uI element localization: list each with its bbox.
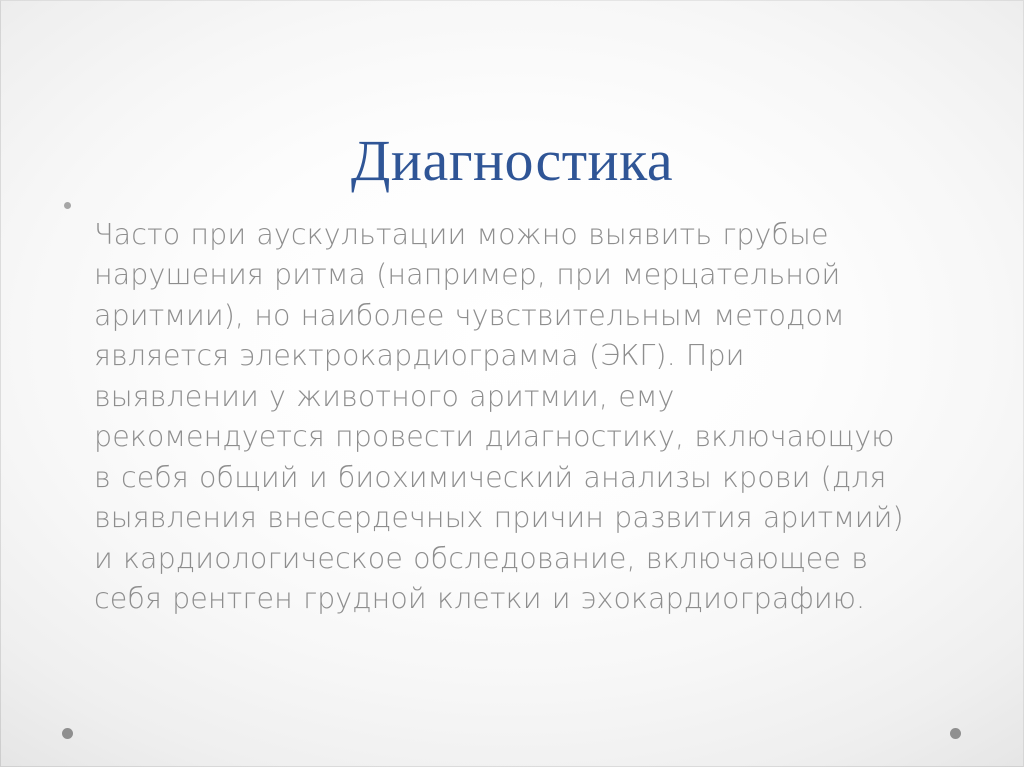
decorative-dot-bottom-right-icon [950,728,961,739]
decorative-dot-bottom-left-icon [62,728,73,739]
slide-canvas: Диагностика Часто при аускультации можно… [0,0,1024,767]
bullet-paragraph: Часто при аускультации можно выявить гру… [94,215,914,620]
slide-body: Часто при аускультации можно выявить гру… [60,186,940,648]
bullet-dot-icon [60,186,94,209]
list-item: Часто при аускультации можно выявить гру… [60,186,940,648]
page-title: Диагностика [0,127,1024,195]
